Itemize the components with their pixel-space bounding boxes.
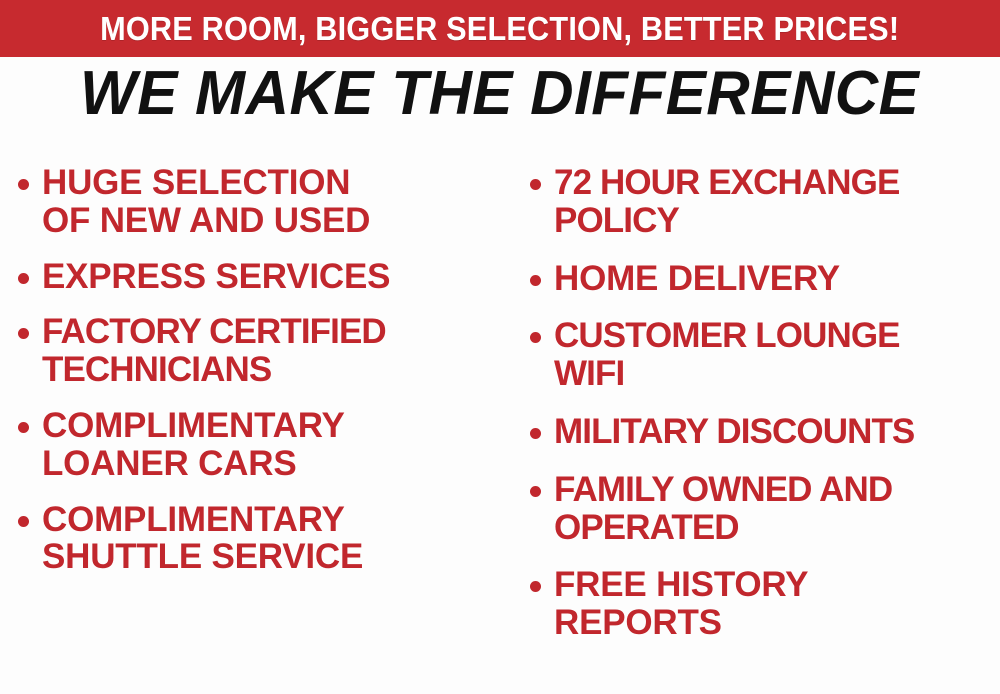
list-item: 72 HOUR EXCHANGE POLICY <box>530 164 1000 240</box>
list-item: FAMILY OWNED AND OPERATED <box>530 471 1000 547</box>
promo-banner: MORE ROOM, BIGGER SELECTION, BETTER PRIC… <box>0 0 1000 57</box>
bullet-dot-icon <box>18 422 29 433</box>
headline: WE MAKE THE DIFFERENCE <box>0 62 1000 126</box>
list-item: CUSTOMER LOUNGE WIFI <box>530 317 1000 393</box>
list-item: MILITARY DISCOUNTS <box>530 413 1000 451</box>
bullet-dot-icon <box>18 516 29 527</box>
list-item-label: 72 HOUR EXCHANGE POLICY <box>552 164 899 240</box>
headline-text: WE MAKE THE DIFFERENCE <box>80 62 919 126</box>
advertisement-banner: MORE ROOM, BIGGER SELECTION, BETTER PRIC… <box>0 0 1000 694</box>
bullet-dot-icon <box>530 275 541 286</box>
list-item: COMPLIMENTARY LOANER CARS <box>18 407 510 483</box>
benefits-columns: HUGE SELECTION OF NEW AND USED EXPRESS S… <box>0 156 1000 694</box>
list-item-label: CUSTOMER LOUNGE WIFI <box>552 317 900 393</box>
bullet-dot-icon <box>530 332 541 343</box>
bullet-dot-icon <box>530 581 541 592</box>
list-item-label: FAMILY OWNED AND OPERATED <box>552 471 892 547</box>
benefits-column-right: 72 HOUR EXCHANGE POLICY HOME DELIVERY CU… <box>510 156 1000 694</box>
list-item-label: MILITARY DISCOUNTS <box>552 413 914 451</box>
promo-banner-text: MORE ROOM, BIGGER SELECTION, BETTER PRIC… <box>100 12 899 45</box>
list-item: HOME DELIVERY <box>530 260 1000 298</box>
bullet-dot-icon <box>18 273 29 284</box>
list-item-label: FACTORY CERTIFIED TECHNICIANS <box>40 313 386 389</box>
list-item: FREE HISTORY REPORTS <box>530 566 1000 642</box>
list-item-label: EXPRESS SERVICES <box>40 258 390 296</box>
bullet-dot-icon <box>530 486 541 497</box>
bullet-dot-icon <box>18 179 29 190</box>
list-item: HUGE SELECTION OF NEW AND USED <box>18 164 510 240</box>
list-item: FACTORY CERTIFIED TECHNICIANS <box>18 313 510 389</box>
benefits-column-left: HUGE SELECTION OF NEW AND USED EXPRESS S… <box>0 156 510 694</box>
bullet-dot-icon <box>530 179 541 190</box>
list-item-label: HUGE SELECTION OF NEW AND USED <box>40 164 370 240</box>
list-item-label: COMPLIMENTARY SHUTTLE SERVICE <box>40 501 363 577</box>
list-item-label: HOME DELIVERY <box>552 260 840 298</box>
list-item: EXPRESS SERVICES <box>18 258 510 296</box>
list-item: COMPLIMENTARY SHUTTLE SERVICE <box>18 501 510 577</box>
list-item-label: FREE HISTORY REPORTS <box>552 566 808 642</box>
list-item-label: COMPLIMENTARY LOANER CARS <box>40 407 345 483</box>
bullet-dot-icon <box>530 428 541 439</box>
bullet-dot-icon <box>18 328 29 339</box>
